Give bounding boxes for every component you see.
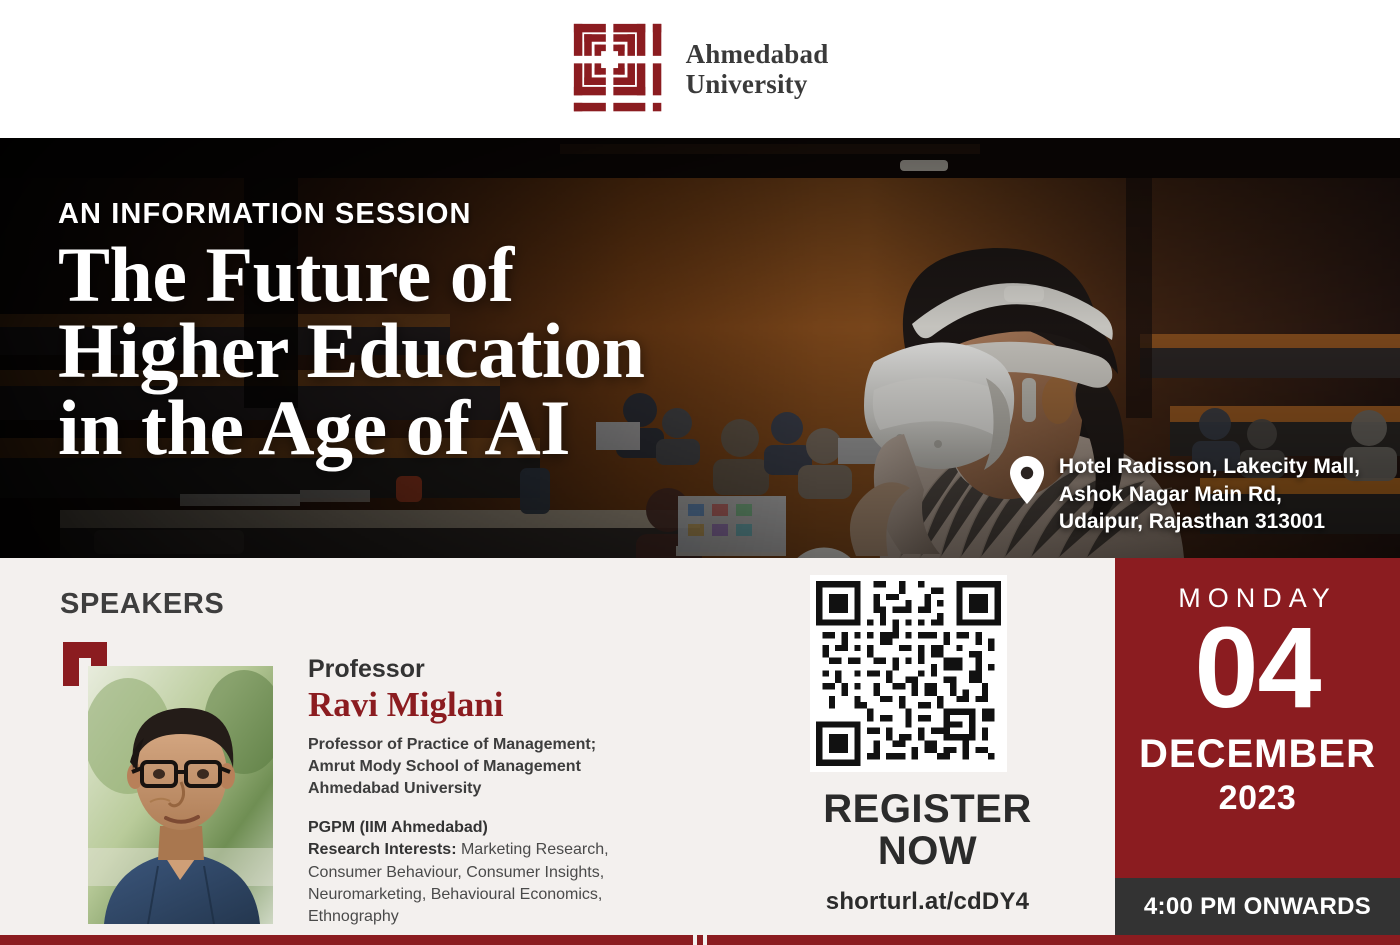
venue-address: Hotel Radisson, Lakecity Mall, Ashok Nag… — [1059, 453, 1360, 536]
research-interests-line-1: Research Interests: Marketing Research, — [308, 839, 658, 861]
register-cta-line-1: REGISTER — [740, 788, 1115, 830]
hero-kicker: AN INFORMATION SESSION — [58, 198, 644, 231]
venue-line-3: Udaipur, Rajasthan 313001 — [1059, 508, 1360, 536]
ahmedabad-university-logo-icon — [572, 22, 666, 116]
title-line-1: The Future of — [58, 237, 644, 313]
venue-line-2: Ashok Nagar Main Rd, — [1059, 481, 1360, 509]
title-line-3: in the Age of AI — [58, 390, 644, 466]
register-block: REGISTER NOW shorturl.at/cdDY4 — [740, 558, 1115, 935]
speaker-affiliation: Professor of Practice of Management; Amr… — [308, 734, 658, 801]
speaker-avatar — [88, 666, 273, 924]
bottom-notch-inner — [697, 935, 703, 945]
event-time: 4:00 PM ONWARDS — [1144, 893, 1371, 921]
affiliation-line-1: Professor of Practice of Management; — [308, 734, 658, 756]
brand-line-2: University — [686, 69, 829, 99]
research-interests-label: Research Interests: — [308, 841, 457, 858]
brand-line-1: Ahmedabad — [686, 39, 829, 69]
affiliation-line-2: Amrut Mody School of Management — [308, 756, 658, 778]
speakers-heading: SPEAKERS — [60, 588, 224, 621]
poster-header: Ahmedabad University — [0, 0, 1400, 138]
research-interests-line-2: Consumer Behaviour, Consumer Insights, — [308, 862, 658, 884]
speaker-background: PGPM (IIM Ahmedabad) Research Interests:… — [308, 817, 658, 929]
qr-code[interactable] — [810, 575, 1007, 772]
university-brand: Ahmedabad University — [572, 22, 829, 116]
date-month: DECEMBER — [1115, 732, 1400, 777]
hero-title-block: AN INFORMATION SESSION The Future of Hig… — [58, 198, 644, 466]
speaker-name: Ravi Miglani — [308, 685, 658, 724]
register-cta[interactable]: REGISTER NOW — [740, 788, 1115, 872]
register-cta-line-2: NOW — [740, 830, 1115, 872]
speaker-role: Professor — [308, 656, 658, 684]
research-interests-line-4: Ethnography — [308, 906, 658, 928]
date-panel: MONDAY 04 DECEMBER 2023 — [1115, 558, 1400, 878]
date-day-number: 04 — [1115, 616, 1400, 722]
research-interests-line-3: Neuromarketing, Behavioural Economics, — [308, 884, 658, 906]
research-interests-value: Marketing Research, — [457, 841, 609, 858]
title-line-2: Higher Education — [58, 313, 644, 389]
affiliation-line-3: Ahmedabad University — [308, 778, 658, 800]
event-poster: Ahmedabad University — [0, 0, 1400, 945]
map-pin-icon — [1009, 455, 1045, 510]
speaker-details: Professor Ravi Miglani Professor of Prac… — [308, 656, 658, 929]
hero-banner: AN INFORMATION SESSION The Future of Hig… — [0, 138, 1400, 558]
date-year: 2023 — [1115, 779, 1400, 818]
page-title: The Future of Higher Education in the Ag… — [58, 237, 644, 466]
time-bar: 4:00 PM ONWARDS — [1115, 878, 1400, 935]
registration-url[interactable]: shorturl.at/cdDY4 — [740, 888, 1115, 916]
venue-block: Hotel Radisson, Lakecity Mall, Ashok Nag… — [1009, 453, 1360, 536]
university-name: Ahmedabad University — [686, 39, 829, 99]
venue-line-1: Hotel Radisson, Lakecity Mall, — [1059, 453, 1360, 481]
speaker-portrait — [88, 666, 273, 924]
speaker-qualification: PGPM (IIM Ahmedabad) — [308, 817, 658, 839]
